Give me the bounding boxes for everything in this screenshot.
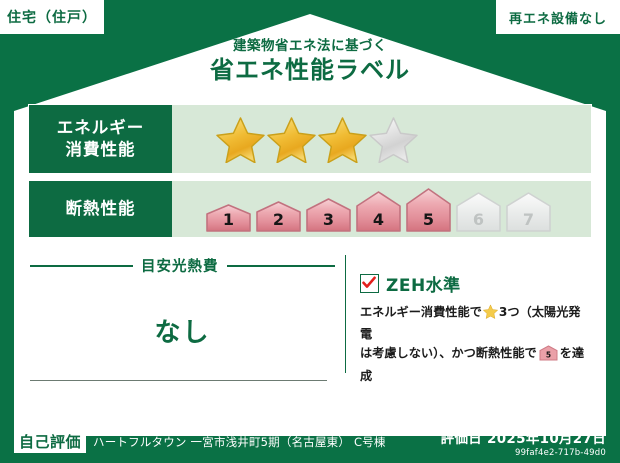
section-divider (345, 255, 346, 373)
inline-house-badge: 5 (539, 345, 558, 367)
utility-cost-block: 目安光熱費 なし (30, 255, 335, 385)
zeh-desc-part3: は考慮しない）、かつ断熱性能で (360, 346, 537, 360)
insulation-house-filled: 4 (355, 191, 402, 233)
row-energy-label: エネルギー 消費性能 (29, 105, 172, 173)
tag-renewable-energy: 再エネ設備なし (496, 0, 620, 34)
utility-cost-value: なし (30, 312, 335, 349)
project-name: ハートフルタウン 一宮市浅井町5期（名古屋東） C号棟 (93, 434, 386, 450)
check-icon (362, 276, 376, 290)
heading-rule-left (30, 265, 133, 267)
evaluation-date: 評価日 2025年10月27日 (441, 427, 606, 447)
utility-cost-heading: 目安光熱費 (30, 255, 335, 276)
row-energy-label-line1: エネルギー (57, 117, 145, 139)
insulation-house-filled: 5 (405, 188, 452, 233)
insulation-house-filled: 1 (205, 204, 252, 233)
insulation-level-number: 1 (223, 210, 234, 229)
star-rating (216, 116, 418, 163)
zeh-block: ZEH水準 エネルギー消費性能で3つ（太陽光発電 は考慮しない）、かつ断熱性能で… (360, 255, 590, 385)
inline-star-icon (483, 304, 498, 325)
row-insulation-value: 1234567 (172, 181, 591, 237)
performance-section: エネルギー 消費性能 断熱性能 1234567 (28, 104, 592, 244)
footer-right-block: 評価日 2025年10月27日 99faf4e2-717b-49d0 (441, 427, 606, 458)
energy-performance-label: 住宅（住戸） 再エネ設備なし 建築物省エネ法に基づく 省エネ性能ラベル エネルギ… (0, 0, 620, 463)
insulation-level-number: 2 (273, 210, 284, 229)
evaluation-id: 99faf4e2-717b-49d0 (441, 448, 606, 458)
zeh-checkbox[interactable] (360, 274, 379, 293)
label-title-block: 建築物省エネ法に基づく 省エネ性能ラベル (0, 38, 620, 85)
row-insulation-label: 断熱性能 (29, 181, 172, 237)
row-insulation-label-text: 断熱性能 (66, 198, 136, 220)
utility-cost-bottom-rule (30, 380, 327, 382)
insulation-house-empty: 6 (455, 192, 502, 233)
self-evaluation-badge: 自己評価 (14, 431, 86, 454)
row-insulation: 断熱性能 1234567 (28, 180, 592, 238)
zeh-title: ZEH水準 (386, 271, 461, 296)
insulation-level-number: 4 (373, 210, 384, 229)
tag-renewable-energy-label: 再エネ設備なし (509, 8, 607, 27)
row-energy-value (172, 105, 591, 173)
insulation-level-number: 6 (473, 210, 484, 229)
utility-cost-heading-text: 目安光熱費 (141, 255, 219, 276)
row-energy-consumption: エネルギー 消費性能 (28, 104, 592, 174)
insulation-house-empty: 7 (505, 192, 552, 233)
label-footer: 自己評価 ハートフルタウン 一宮市浅井町5期（名古屋東） C号棟 評価日 202… (0, 421, 620, 463)
star-filled-icon (216, 116, 265, 163)
tag-building-type: 住宅（住戸） (0, 0, 104, 34)
svg-text:5: 5 (546, 350, 551, 359)
heading-rule-right (227, 265, 336, 267)
insulation-house-filled: 3 (305, 198, 352, 233)
lower-section: 目安光熱費 なし ZEH水準 エネルギー消費性能で3つ（太陽光発電 は考慮しない… (30, 255, 590, 385)
tag-building-type-label: 住宅（住戸） (7, 7, 97, 27)
insulation-level-number: 5 (423, 210, 434, 229)
zeh-heading: ZEH水準 (360, 271, 590, 296)
zeh-description: エネルギー消費性能で3つ（太陽光発電 は考慮しない）、かつ断熱性能で5を達成 (360, 303, 590, 386)
zeh-desc-part1: エネルギー消費性能で (360, 305, 482, 319)
insulation-level-number: 7 (523, 210, 534, 229)
insulation-level-number: 3 (323, 210, 334, 229)
star-empty-icon (369, 116, 418, 163)
insulation-house-filled: 2 (255, 201, 302, 233)
insulation-scale: 1234567 (205, 188, 552, 233)
star-filled-icon (318, 116, 367, 163)
label-title: 省エネ性能ラベル (0, 57, 620, 85)
evaluation-date-value: 2025年10月27日 (487, 431, 606, 447)
evaluation-date-label: 評価日 (441, 431, 482, 447)
row-energy-label-line2: 消費性能 (66, 139, 136, 161)
star-filled-icon (267, 116, 316, 163)
label-subtitle: 建築物省エネ法に基づく (0, 38, 620, 54)
